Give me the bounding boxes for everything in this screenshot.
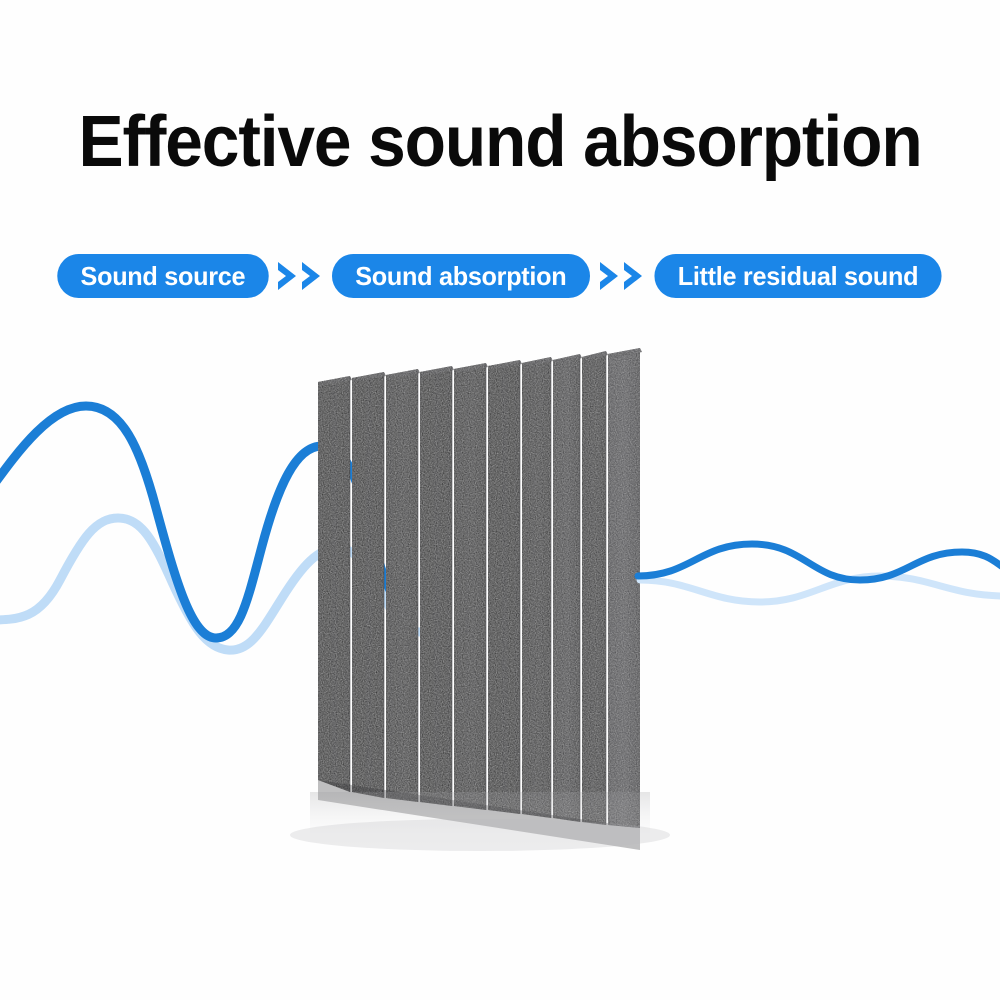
promo-banner: Effective sound absorption Sound source … — [0, 0, 1000, 1000]
flow-step-label: Sound absorption — [355, 261, 566, 292]
page-title: Effective sound absorption — [30, 104, 970, 180]
double-chevron-right-icon — [272, 259, 328, 293]
acoustic-scene — [0, 330, 1000, 930]
flow-step-label: Sound source — [81, 261, 246, 292]
flow-step-label: Little residual sound — [677, 261, 918, 292]
wave-path-bold-residual — [638, 544, 1000, 580]
residual-sound-waves — [0, 330, 1000, 930]
flow-step-little-residual-sound[interactable]: Little residual sound — [654, 254, 941, 298]
sound-flow-steps: Sound source Sound absorption Little res… — [0, 252, 1000, 300]
double-chevron-right-icon — [594, 259, 650, 293]
wave-path-light-residual — [640, 576, 1000, 602]
flow-step-sound-source[interactable]: Sound source — [58, 254, 269, 298]
flow-step-sound-absorption[interactable]: Sound absorption — [332, 254, 590, 298]
